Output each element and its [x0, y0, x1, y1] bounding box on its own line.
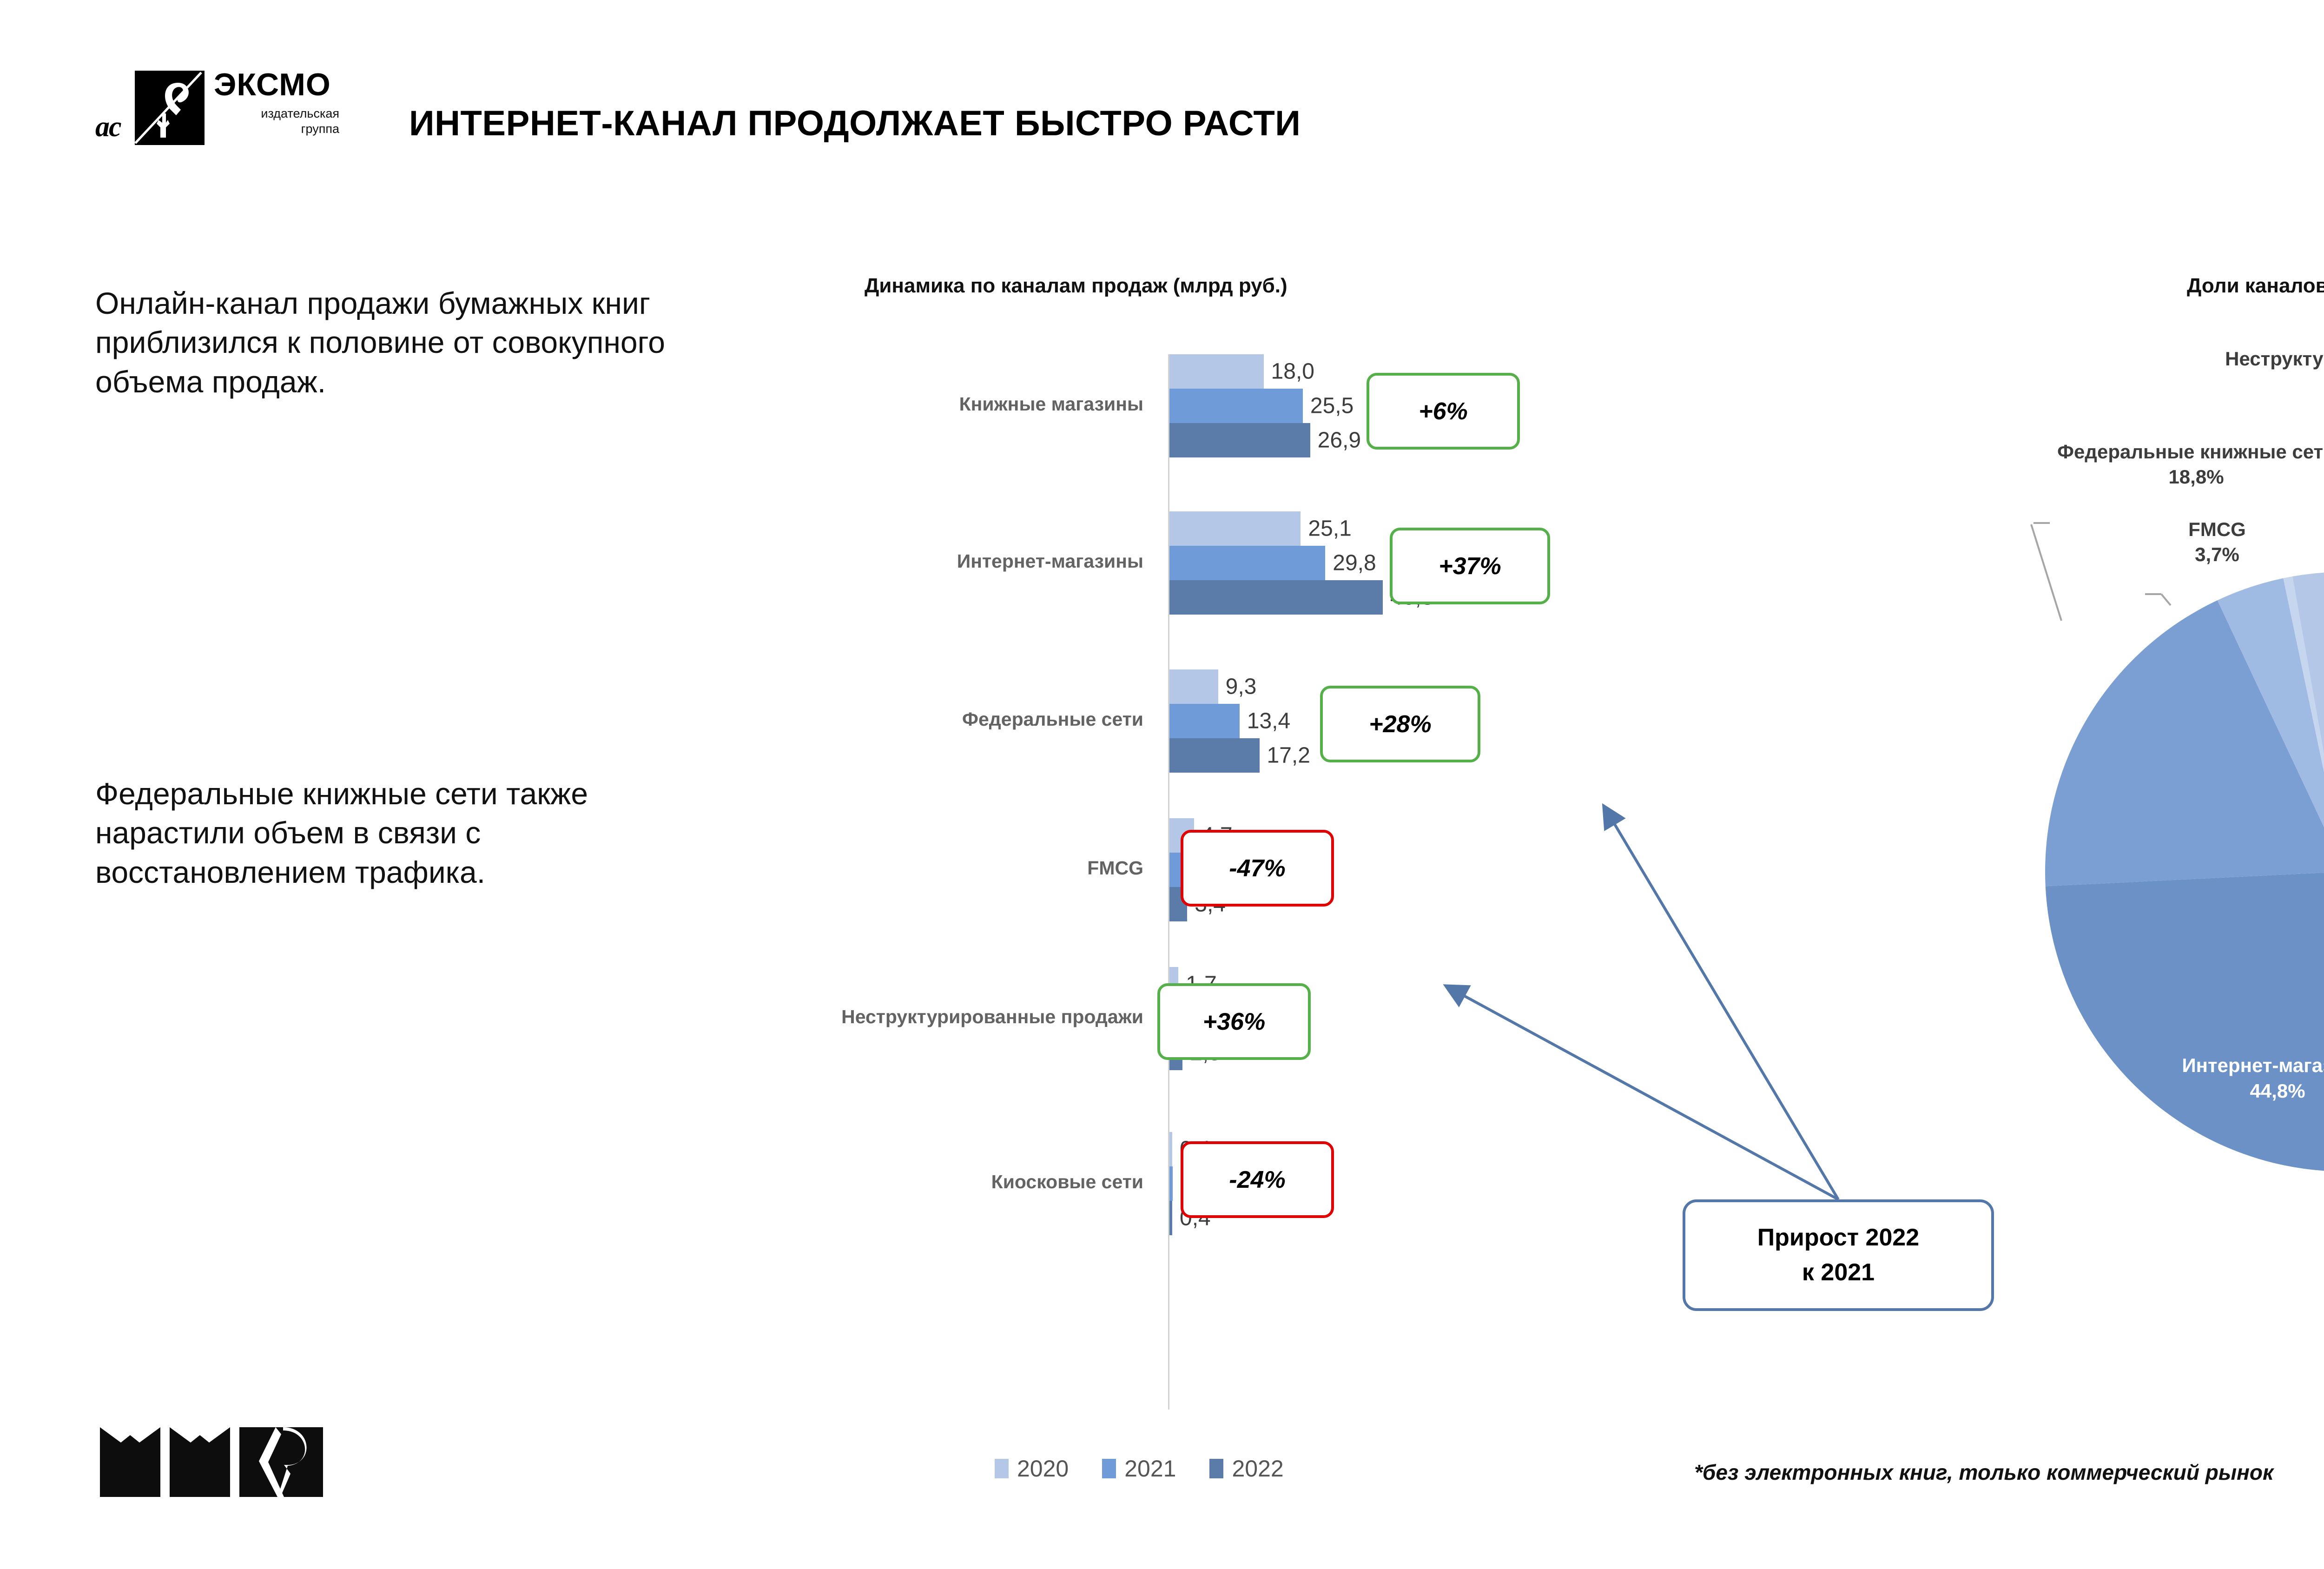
pie-slice-label-online-text: Интернет-магазины — [2182, 1054, 2324, 1076]
legend-label: 2021 — [1124, 1455, 1176, 1482]
bar-rect-2020 — [1169, 511, 1301, 546]
bar-value-label: 25,5 — [1310, 393, 1353, 419]
bar-value-label: 26,9 — [1318, 428, 1361, 453]
pie-label-fmcg-value: 3,7% — [2195, 543, 2239, 565]
bar-category-label: Федеральные сети — [962, 708, 1143, 730]
chart-footnote: *без электронных книг, только коммерческ… — [1694, 1460, 2273, 1485]
pie-slice-label-online: Интернет-магазины 44,8% — [2124, 1053, 2324, 1104]
bar-rect-2021 — [1169, 389, 1303, 423]
bar-rect-2020 — [1169, 1132, 1172, 1166]
bar-chart-legend: 202020212022 — [995, 1455, 1284, 1482]
brand-prefix: ас — [95, 111, 121, 144]
bar-value-label: 9,3 — [1226, 674, 1257, 700]
bar-rect-2022 — [1169, 738, 1260, 773]
legend-item-2021[interactable]: 2021 — [1102, 1455, 1176, 1482]
growth-badge: +37% — [1390, 528, 1550, 604]
legend-label: 2020 — [1017, 1455, 1069, 1482]
bar-category-label: Книжные магазины — [959, 393, 1143, 415]
bar-rect-2022 — [1169, 1201, 1172, 1235]
growth-badge: +36% — [1157, 983, 1311, 1060]
callout-arrows — [1348, 781, 2045, 1432]
bar-category-label: Неструктурированные продажи — [841, 1006, 1143, 1028]
bar-rect-2020 — [1169, 354, 1264, 389]
legend-item-2022[interactable]: 2022 — [1209, 1455, 1283, 1482]
bar-value-label: 13,4 — [1247, 708, 1290, 734]
bar-rect-2020 — [1169, 669, 1218, 704]
bar-chart-title: Динамика по каналам продаж (млрд руб.) — [865, 274, 1287, 298]
pie-label-federal-value: 18,8% — [2168, 466, 2224, 488]
legend-swatch-icon — [995, 1459, 1009, 1478]
bar-category-label: FMCG — [1087, 857, 1143, 879]
bar-rect-2021 — [1169, 704, 1240, 738]
pie-label-federal-text: Федеральные книжные сети — [2057, 441, 2324, 463]
bar-value-label: 29,8 — [1333, 550, 1376, 576]
brand-name: ЭКСМО — [214, 69, 331, 100]
page-title: ИНТЕРНЕТ-КАНАЛ ПРОДОЛЖАЕТ БЫСТРО РАСТИ — [409, 103, 1301, 144]
legend-item-2020[interactable]: 2020 — [995, 1455, 1069, 1482]
pie-label-unstructured-text: Неструктурированные продажи — [2225, 348, 2324, 370]
brand-subtitle: издательская группа — [214, 106, 339, 137]
legend-swatch-icon — [1102, 1459, 1116, 1478]
brand-logo: ас ЭКСМО издательская группа — [95, 56, 356, 153]
bar-category-label: Киосковые сети — [991, 1171, 1143, 1193]
brand-subtitle-line1: издательская — [214, 106, 339, 121]
bar-rect-2022 — [1169, 580, 1383, 615]
growth-badge: -24% — [1181, 1141, 1334, 1218]
mmkya-logo-icon — [95, 1406, 328, 1506]
pie-label-unstructured: Неструктурированные продажи 2,8% — [2119, 346, 2324, 397]
growth-badge: -47% — [1181, 830, 1334, 907]
brand-subtitle-line2: группа — [214, 121, 339, 137]
growth-badge: +6% — [1367, 373, 1520, 450]
legend-label: 2022 — [1232, 1455, 1283, 1482]
bar-rect-2021 — [1169, 1166, 1173, 1201]
eksmo-diagonal-mark-icon — [135, 71, 205, 145]
bar-value-label: 17,2 — [1267, 743, 1310, 768]
legend-swatch-icon — [1209, 1459, 1223, 1478]
bar-value-label: 25,1 — [1308, 516, 1351, 542]
bar-category-label: Интернет-магазины — [957, 550, 1143, 572]
pie-chart-title: Доли каналов в 2022 году — [2187, 274, 2324, 298]
bar-value-label: 18,0 — [1271, 359, 1314, 384]
bar-rect-2022 — [1169, 423, 1310, 457]
growth-badge: +28% — [1320, 686, 1480, 762]
pie-slice — [2046, 872, 2324, 1172]
pie-slice-label-online-value: 44,8% — [2250, 1080, 2305, 1102]
pie-label-fmcg-text: FMCG — [2188, 518, 2246, 540]
pie-label-federal: Федеральные книжные сети 18,8% — [1980, 439, 2324, 490]
pie-label-fmcg: FMCG 3,7% — [2147, 517, 2287, 567]
bar-rect-2021 — [1169, 546, 1325, 580]
